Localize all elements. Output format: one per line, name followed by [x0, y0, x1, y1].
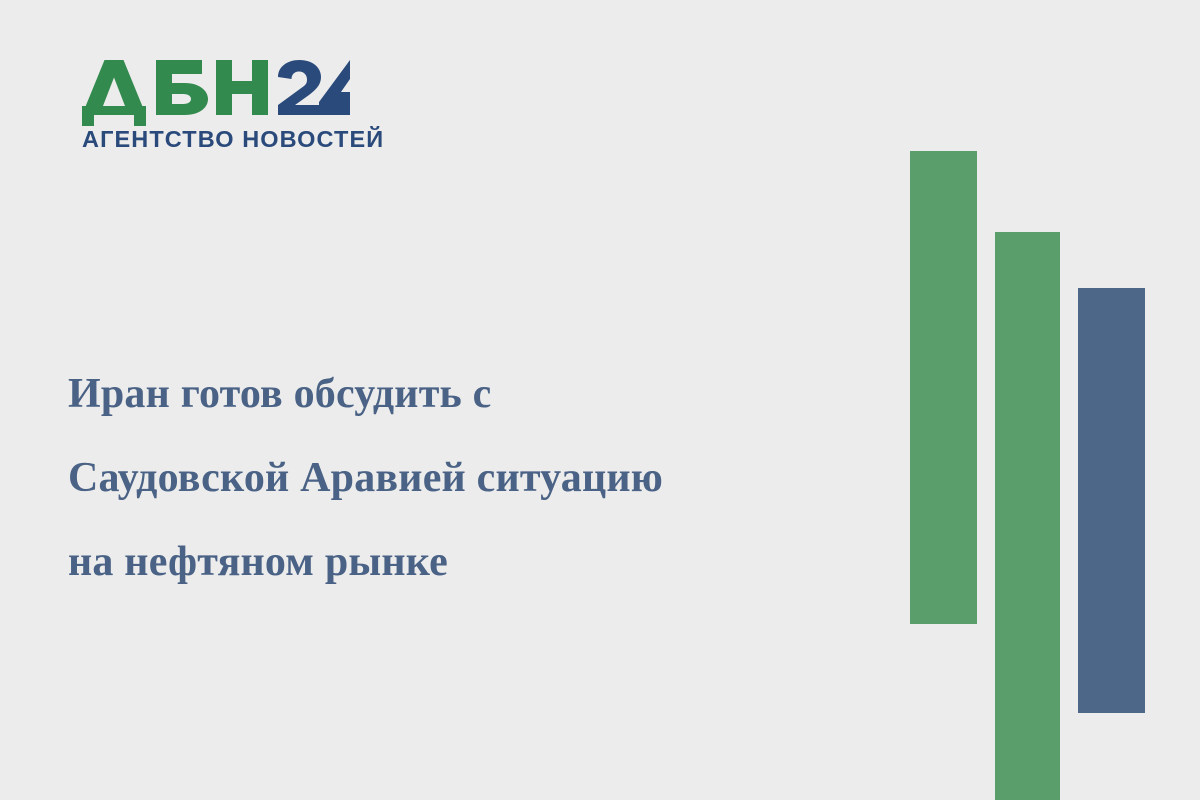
abn24-logo[interactable]: АГЕНТСТВО НОВОСТЕЙ: [82, 60, 372, 160]
page-title: Иран готов обсудить с Саудовской Аравией…: [68, 352, 868, 604]
chart-bar-2: [995, 232, 1060, 800]
headline-line-2: Саудовской Аравией ситуацию: [68, 436, 868, 520]
news-card: АГЕНТСТВО НОВОСТЕЙ Иран готов обсудить с…: [0, 0, 1200, 800]
chart-bar-3: [1078, 288, 1145, 713]
logo-wordmark-icon: [82, 60, 350, 126]
logo-tagline: АГЕНТСТВО НОВОСТЕЙ: [82, 126, 384, 153]
headline-line-1: Иран готов обсудить с: [68, 352, 868, 436]
chart-bar-1: [910, 151, 977, 624]
headline-line-3: на нефтяном рынке: [68, 520, 868, 604]
